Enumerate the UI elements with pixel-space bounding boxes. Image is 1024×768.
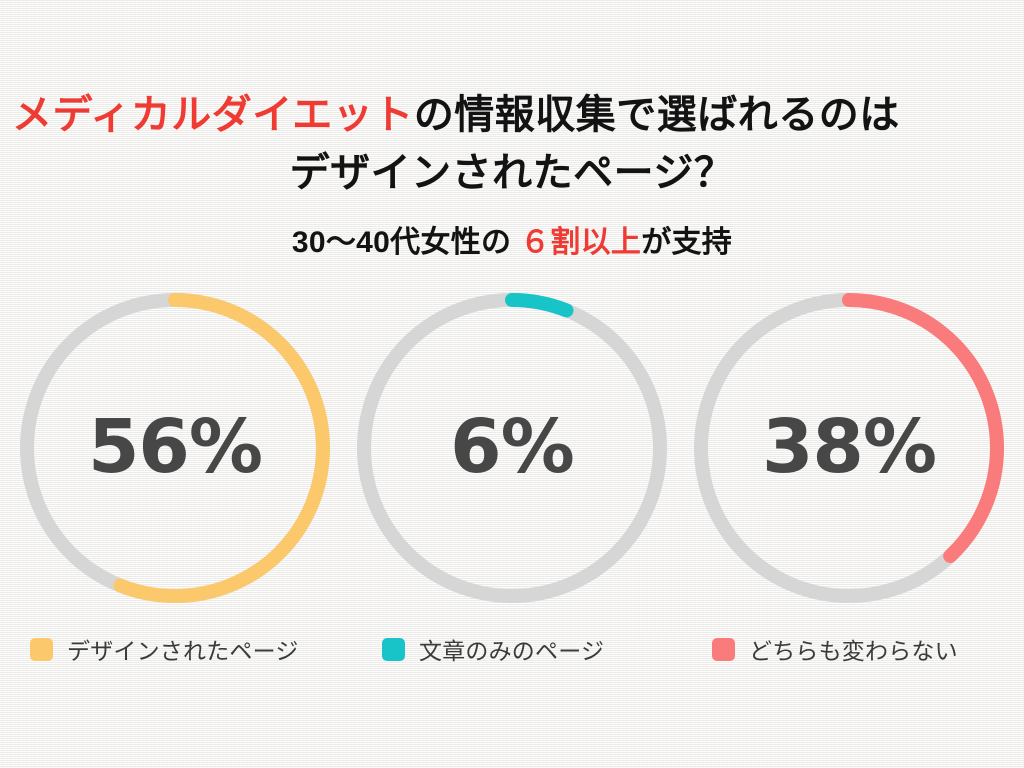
legend-swatch-icon [30, 638, 53, 661]
chart-legend: デザインされたページ 文章のみのページ どちらも変わらない [0, 633, 1024, 673]
donut-value-label-wrap: 56% [17, 290, 333, 606]
legend-swatch-icon [382, 638, 405, 661]
donut-value-label: 38% [762, 410, 936, 484]
donut-value-label-wrap: 38% [691, 290, 1007, 606]
subtitle-accent: ６割以上 [520, 226, 641, 259]
legend-item-text-only-page: 文章のみのページ [382, 633, 604, 665]
legend-item-label: どちらも変わらない [749, 632, 958, 666]
page-title-line-1: メディカルダイエットの情報収集で選ばれるのは [0, 86, 1024, 144]
page-subtitle: 30〜40代女性の ６割以上が支持 [0, 222, 1024, 264]
donut-gauge-text-only-page: 6% [354, 290, 670, 606]
page-title-rest: の情報収集で選ばれるのは [414, 93, 900, 137]
legend-item-designed-page: デザインされたページ [30, 633, 299, 665]
legend-swatch-icon [712, 638, 735, 661]
page-title-line-2: デザインされたページ？ [0, 144, 1024, 202]
subtitle-after: が支持 [641, 226, 732, 259]
donut-value-label-wrap: 6% [354, 290, 670, 606]
donut-gauge-no-difference: 38% [691, 290, 1007, 606]
donut-value-label: 6% [450, 410, 574, 484]
legend-item-no-difference: どちらも変わらない [712, 633, 958, 665]
legend-item-label: デザインされたページ [67, 632, 299, 666]
headline-block: メディカルダイエットの情報収集で選ばれるのは デザインされたページ？ [0, 86, 1024, 202]
donut-gauge-designed-page: 56% [17, 290, 333, 606]
page-title-accent: メディカルダイエット [12, 93, 414, 137]
legend-item-label: 文章のみのページ [419, 632, 604, 666]
donut-value-label: 56% [88, 410, 262, 484]
infographic-page: メディカルダイエットの情報収集で選ばれるのは デザインされたページ？ 30〜40… [0, 0, 1024, 768]
subtitle-before: 30〜40代女性の [292, 226, 520, 259]
donut-chart-row: 56% 6% 38% [0, 290, 1024, 606]
